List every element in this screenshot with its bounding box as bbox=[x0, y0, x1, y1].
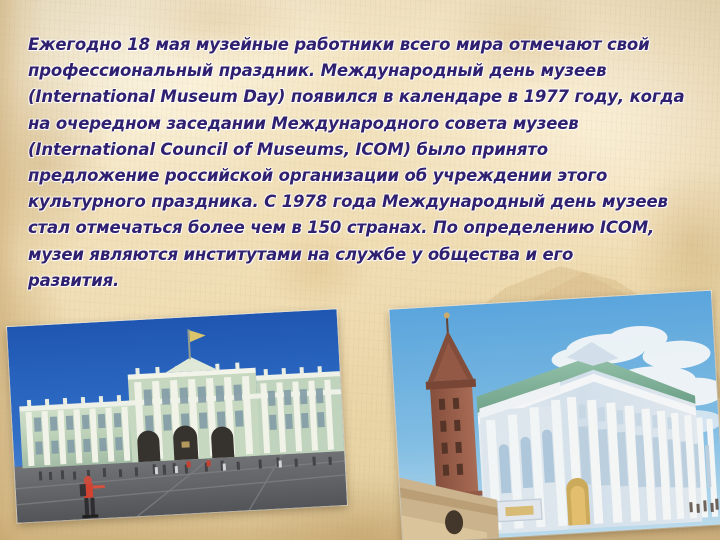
paragraph-line: предложение российской организации об уч… bbox=[28, 163, 694, 189]
paragraph-line: на очередном заседании Международного со… bbox=[28, 111, 694, 137]
winter-palace-hermitage-photo bbox=[7, 309, 347, 523]
paragraph-line: (International Council of Museums, ICOM)… bbox=[28, 137, 694, 163]
paragraph-line: Ежегодно 18 мая музейные работники всего… bbox=[28, 32, 694, 58]
moscow-kremlin-armoury-photo bbox=[389, 291, 720, 540]
paragraph-line: профессиональный праздник. Международный… bbox=[28, 58, 694, 84]
paragraph-line: музеи являются институтами на службе у о… bbox=[28, 242, 694, 268]
paragraph-line: (International Museum Day) появился в ка… bbox=[28, 84, 694, 110]
body-text-block: Ежегодно 18 мая музейные работники всего… bbox=[28, 32, 694, 294]
paragraph-line: культурного праздника. С 1978 года Между… bbox=[28, 189, 694, 215]
slide-canvas: Ежегодно 18 мая музейные работники всего… bbox=[0, 0, 720, 540]
paragraph-line: стал отмечаться более чем в 150 странах.… bbox=[28, 215, 694, 241]
paragraph-line: развития. bbox=[28, 268, 694, 294]
